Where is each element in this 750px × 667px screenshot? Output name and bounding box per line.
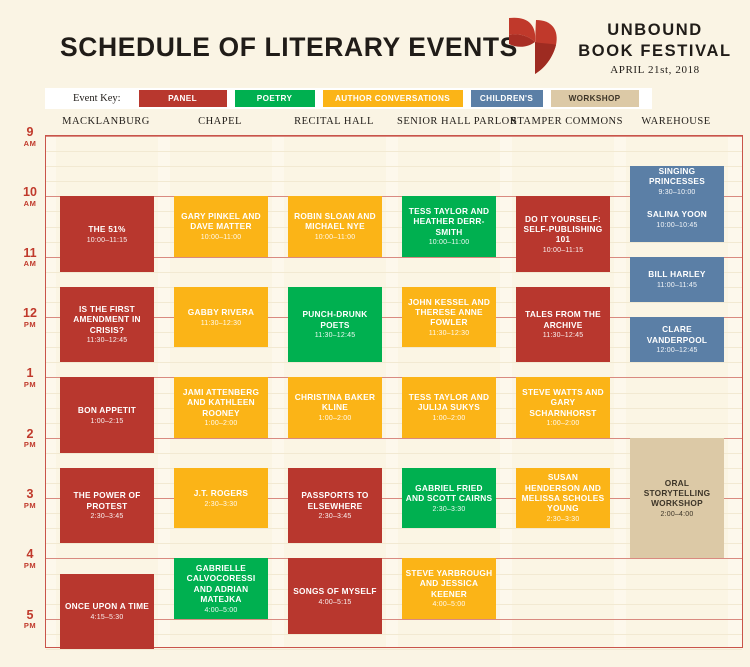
event-block[interactable]: BILL HARLEY11:00–11:45 bbox=[630, 257, 724, 302]
event-key-chip-label: WORKSHOP bbox=[569, 94, 621, 103]
event-time: 2:30–3:45 bbox=[319, 513, 352, 521]
event-block[interactable]: ROBIN SLOAN AND MICHAEL NYE10:00–11:00 bbox=[288, 196, 382, 256]
time-label-meridiem: PM bbox=[18, 562, 42, 570]
event-block[interactable]: ORAL STORYTELLING WORKSHOP2:00–4:00 bbox=[630, 438, 724, 559]
time-label-11-am: 11AM bbox=[18, 247, 42, 268]
event-title: PUNCH-DRUNK POETS bbox=[291, 309, 379, 330]
event-title: SONGS OF MYSELF bbox=[293, 586, 377, 596]
event-title: STEVE YARBROUGH AND JESSICA KEENER bbox=[405, 568, 493, 599]
event-title: ONCE UPON A TIME bbox=[65, 601, 149, 611]
event-time: 12:00–12:45 bbox=[656, 347, 697, 355]
event-title: ROBIN SLOAN AND MICHAEL NYE bbox=[291, 211, 379, 232]
hour-gridline bbox=[46, 558, 742, 559]
brand-line-1: UNBOUND bbox=[571, 20, 739, 41]
event-time: 2:30–3:30 bbox=[433, 506, 466, 514]
time-label-12-pm: 12PM bbox=[18, 307, 42, 328]
time-label-hour: 2 bbox=[18, 428, 42, 441]
event-title: JOHN KESSEL AND THERESE ANNE FOWLER bbox=[405, 297, 493, 328]
brand-line-2: BOOK FESTIVAL bbox=[571, 41, 739, 62]
schedule-plot-area: THE 51%10:00–11:15IS THE FIRST AMENDMENT… bbox=[45, 135, 743, 648]
quarter-hour-gridline bbox=[46, 649, 742, 650]
event-block[interactable]: SUSAN HENDERSON AND MELISSA SCHOLES YOUN… bbox=[516, 468, 610, 528]
event-block[interactable]: STEVE YARBROUGH AND JESSICA KEENER4:00–5… bbox=[402, 558, 496, 618]
event-block[interactable]: GABBY RIVERA11:30–12:30 bbox=[174, 287, 268, 347]
column-header-senior-hall-parlor: SENIOR HALL PARLOR bbox=[397, 116, 499, 127]
event-key-chips: PANELPOETRYAUTHOR CONVERSATIONSCHILDREN'… bbox=[139, 90, 647, 107]
event-time: 4:15–5:30 bbox=[91, 614, 124, 622]
event-time: 10:00–11:15 bbox=[87, 237, 128, 245]
event-block[interactable]: TESS TAYLOR AND HEATHER DERR-SMITH10:00–… bbox=[402, 196, 496, 256]
event-time: 11:00–11:45 bbox=[657, 282, 697, 290]
event-title: THE 51% bbox=[88, 224, 125, 234]
event-title: GABRIEL FRIED AND SCOTT CAIRNS bbox=[405, 483, 493, 504]
time-label-meridiem: PM bbox=[18, 321, 42, 329]
event-time: 2:30–3:30 bbox=[205, 501, 238, 509]
event-title: ORAL STORYTELLING WORKSHOP bbox=[633, 478, 721, 509]
event-block[interactable]: CHRISTINA BAKER KLINE1:00–2:00 bbox=[288, 377, 382, 437]
event-title: THE POWER OF PROTEST bbox=[63, 490, 151, 511]
time-label-hour: 5 bbox=[18, 609, 42, 622]
event-time: 1:00–2:00 bbox=[433, 415, 466, 423]
time-label-9-am: 9AM bbox=[18, 126, 42, 147]
event-title: TESS TAYLOR AND HEATHER DERR-SMITH bbox=[405, 206, 493, 237]
event-key-chip-poetry: POETRY bbox=[235, 90, 315, 107]
time-label-2-pm: 2PM bbox=[18, 428, 42, 449]
event-block[interactable]: SINGING PRINCESSES9:30–10:00 bbox=[630, 166, 724, 196]
time-label-meridiem: PM bbox=[18, 502, 42, 510]
column-header-chapel: CHAPEL bbox=[169, 116, 271, 127]
event-key-label: Event Key: bbox=[73, 93, 121, 104]
event-time: 2:30–3:30 bbox=[547, 516, 580, 524]
event-block[interactable]: THE POWER OF PROTEST2:30–3:45 bbox=[60, 468, 154, 543]
event-title: GABRIELLE CALVOCORESSI AND ADRIAN MATEJK… bbox=[177, 563, 265, 604]
time-label-meridiem: PM bbox=[18, 381, 42, 389]
time-label-hour: 1 bbox=[18, 367, 42, 380]
event-block[interactable]: JOHN KESSEL AND THERESE ANNE FOWLER11:30… bbox=[402, 287, 496, 347]
time-label-5-pm: 5PM bbox=[18, 609, 42, 630]
event-block[interactable]: TALES FROM THE ARCHIVE11:30–12:45 bbox=[516, 287, 610, 362]
event-key-legend: Event Key: PANELPOETRYAUTHOR CONVERSATIO… bbox=[45, 88, 652, 109]
time-label-hour: 9 bbox=[18, 126, 42, 139]
time-label-3-pm: 3PM bbox=[18, 488, 42, 509]
event-time: 11:30–12:45 bbox=[87, 337, 128, 345]
event-time: 2:00–4:00 bbox=[661, 511, 694, 519]
event-title: J.T. ROGERS bbox=[194, 488, 248, 498]
event-time: 10:00–10:45 bbox=[656, 222, 697, 230]
event-title: SUSAN HENDERSON AND MELISSA SCHOLES YOUN… bbox=[519, 472, 607, 513]
event-title: SINGING PRINCESSES bbox=[633, 166, 721, 186]
event-title: SALINA YOON bbox=[647, 209, 707, 219]
event-block[interactable]: SALINA YOON10:00–10:45 bbox=[630, 196, 724, 241]
event-block[interactable]: JAMI ATTENBERG AND KATHLEEN ROONEY1:00–2… bbox=[174, 377, 268, 437]
event-block[interactable]: GARY PINKEL AND DAVE MATTER10:00–11:00 bbox=[174, 196, 268, 256]
event-key-chip-panel: PANEL bbox=[139, 90, 227, 107]
event-title: GARY PINKEL AND DAVE MATTER bbox=[177, 211, 265, 232]
column-header-warehouse: WAREHOUSE bbox=[625, 116, 727, 127]
event-key-chip-author-conversations: AUTHOR CONVERSATIONS bbox=[323, 90, 463, 107]
event-title: GABBY RIVERA bbox=[188, 307, 254, 317]
event-title: BILL HARLEY bbox=[648, 269, 705, 279]
hour-gridline bbox=[46, 136, 742, 137]
time-label-4-pm: 4PM bbox=[18, 548, 42, 569]
time-label-hour: 11 bbox=[18, 247, 42, 260]
event-block[interactable]: TESS TAYLOR AND JULIJA SUKYS1:00–2:00 bbox=[402, 377, 496, 437]
time-label-meridiem: AM bbox=[18, 140, 42, 148]
event-block[interactable]: PUNCH-DRUNK POETS11:30–12:45 bbox=[288, 287, 382, 362]
event-key-chip-label: PANEL bbox=[168, 94, 197, 103]
festival-branding: UNBOUND BOOK FESTIVAL APRIL 21st, 2018 bbox=[505, 14, 735, 84]
event-key-chip-label: CHILDREN'S bbox=[480, 94, 533, 103]
event-title: TALES FROM THE ARCHIVE bbox=[519, 309, 607, 330]
event-block[interactable]: PASSPORTS TO ELSEWHERE2:30–3:45 bbox=[288, 468, 382, 543]
event-time: 10:00–11:00 bbox=[315, 234, 356, 242]
event-time: 10:00–11:00 bbox=[201, 234, 242, 242]
event-block[interactable]: THE 51%10:00–11:15 bbox=[60, 196, 154, 271]
event-block[interactable]: DO IT YOURSELF: SELF-PUBLISHING 10110:00… bbox=[516, 196, 610, 271]
time-label-meridiem: PM bbox=[18, 622, 42, 630]
event-block[interactable]: CLARE VANDERPOOL12:00–12:45 bbox=[630, 317, 724, 362]
event-time: 4:00–5:15 bbox=[319, 599, 352, 607]
book-bird-logo-icon bbox=[505, 14, 561, 76]
event-time: 11:30–12:45 bbox=[543, 332, 584, 340]
quarter-hour-gridline bbox=[46, 151, 742, 152]
event-time: 1:00–2:00 bbox=[319, 415, 352, 423]
column-header-macklanburg: MACKLANBURG bbox=[55, 116, 157, 127]
page-title: SCHEDULE OF LITERARY EVENTS bbox=[60, 32, 518, 63]
event-key-chip-label: AUTHOR CONVERSATIONS bbox=[335, 94, 450, 103]
event-block[interactable]: GABRIEL FRIED AND SCOTT CAIRNS2:30–3:30 bbox=[402, 468, 496, 528]
event-time: 1:00–2:15 bbox=[91, 418, 124, 426]
quarter-hour-gridline bbox=[46, 362, 742, 363]
column-header-stamper-commons: STAMPER COMMONS bbox=[511, 116, 613, 127]
time-label-meridiem: AM bbox=[18, 200, 42, 208]
event-time: 9:30–10:00 bbox=[658, 189, 695, 196]
festival-date: APRIL 21st, 2018 bbox=[571, 64, 739, 76]
event-key-chip-label: POETRY bbox=[257, 94, 292, 103]
event-block[interactable]: BON APPETIT1:00–2:15 bbox=[60, 377, 154, 452]
event-block[interactable]: STEVE WATTS AND GARY SCHARNHORST1:00–2:0… bbox=[516, 377, 610, 437]
event-time: 2:30–3:45 bbox=[91, 513, 124, 521]
event-title: PASSPORTS TO ELSEWHERE bbox=[291, 490, 379, 511]
schedule-grid: MACKLANBURGCHAPELRECITAL HALLSENIOR HALL… bbox=[0, 116, 750, 656]
event-time: 4:00–5:00 bbox=[205, 607, 238, 615]
event-time: 1:00–2:00 bbox=[547, 420, 580, 428]
event-title: IS THE FIRST AMENDMENT IN CRISIS? bbox=[63, 304, 151, 335]
time-label-hour: 3 bbox=[18, 488, 42, 501]
page-header: SCHEDULE OF LITERARY EVENTS UNBOUND BOOK… bbox=[0, 0, 750, 88]
time-label-hour: 10 bbox=[18, 186, 42, 199]
event-time: 11:30–12:45 bbox=[315, 332, 356, 340]
event-title: BON APPETIT bbox=[78, 405, 136, 415]
event-key-chip-children-s: CHILDREN'S bbox=[471, 90, 543, 107]
time-label-hour: 4 bbox=[18, 548, 42, 561]
event-time: 10:00–11:15 bbox=[543, 247, 584, 255]
event-title: STEVE WATTS AND GARY SCHARNHORST bbox=[519, 387, 607, 418]
event-time: 10:00–11:00 bbox=[429, 239, 470, 247]
event-block[interactable]: SONGS OF MYSELF4:00–5:15 bbox=[288, 558, 382, 633]
event-key-chip-workshop: WORKSHOP bbox=[551, 90, 639, 107]
event-block[interactable]: IS THE FIRST AMENDMENT IN CRISIS?11:30–1… bbox=[60, 287, 154, 362]
event-title: JAMI ATTENBERG AND KATHLEEN ROONEY bbox=[177, 387, 265, 418]
time-label-10-am: 10AM bbox=[18, 186, 42, 207]
event-time: 4:00–5:00 bbox=[433, 601, 466, 609]
event-time: 11:30–12:30 bbox=[201, 320, 242, 328]
time-label-hour: 12 bbox=[18, 307, 42, 320]
event-title: TESS TAYLOR AND JULIJA SUKYS bbox=[405, 392, 493, 413]
column-header-recital-hall: RECITAL HALL bbox=[283, 116, 385, 127]
event-title: CLARE VANDERPOOL bbox=[633, 324, 721, 345]
event-block[interactable]: ONCE UPON A TIME4:15–5:30 bbox=[60, 574, 154, 649]
event-time: 1:00–2:00 bbox=[205, 420, 238, 428]
event-block[interactable]: GABRIELLE CALVOCORESSI AND ADRIAN MATEJK… bbox=[174, 558, 268, 618]
time-label-meridiem: PM bbox=[18, 441, 42, 449]
event-time: 11:30–12:30 bbox=[429, 330, 470, 338]
time-label-meridiem: AM bbox=[18, 260, 42, 268]
event-title: DO IT YOURSELF: SELF-PUBLISHING 101 bbox=[519, 214, 607, 245]
event-block[interactable]: J.T. ROGERS2:30–3:30 bbox=[174, 468, 268, 528]
time-label-1-pm: 1PM bbox=[18, 367, 42, 388]
event-title: CHRISTINA BAKER KLINE bbox=[291, 392, 379, 413]
